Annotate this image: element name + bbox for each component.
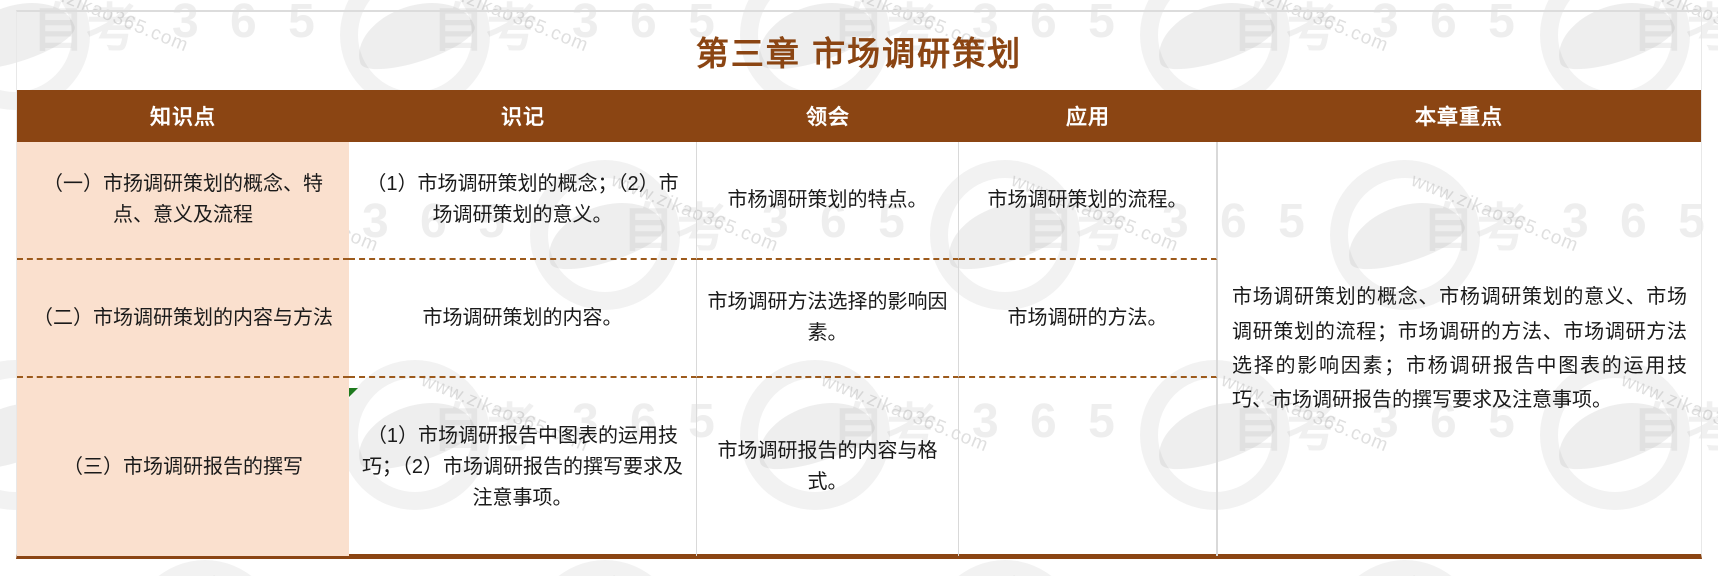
watermark-url: www.zikao365.com — [208, 570, 382, 576]
column-header-apply: 应用 — [959, 90, 1217, 142]
column-header-recognize: 识记 — [349, 90, 697, 142]
cell-knowledge-3: （三）市场调研报告的撰写 — [17, 378, 349, 556]
watermark-url: www.zikao365.com — [1408, 570, 1582, 576]
cell-apply-3 — [959, 378, 1217, 556]
watermark-logo-icon — [130, 560, 280, 576]
watermark-url: www.zikao365.com — [608, 570, 782, 576]
cell-knowledge-2: （二）市场调研策划的内容与方法 — [17, 260, 349, 378]
page-title-band: 第三章 市场调研策划 — [17, 12, 1701, 90]
cell-comprehend-3: 市场调研报告的内容与格式。 — [697, 378, 959, 556]
watermark-logo-icon — [930, 560, 1080, 576]
cell-recognize-3: （1）市场调研报告中图表的运用技巧；（2）市场调研报告的撰写要求及注意事项。 — [349, 378, 697, 556]
cell-knowledge-1: （一）市扬调研策划的概念、特点、意义及流程 — [17, 142, 349, 260]
watermark-logo-icon — [530, 560, 680, 576]
cell-apply-2: 市场调研的方法。 — [959, 260, 1217, 378]
watermark-url: www.zikao365.com — [1008, 570, 1182, 576]
column-header-comprehend: 领会 — [697, 90, 959, 142]
column-header-focus: 本章重点 — [1217, 90, 1701, 142]
cell-recognize-2: 市场调研策划的内容。 — [349, 260, 697, 378]
watermark-unit: 自考3 6 5www.zikao365.com — [930, 560, 1260, 576]
green-triangle-marker-icon — [349, 388, 358, 397]
watermark-logo-icon — [1330, 560, 1480, 576]
column-header-knowledge: 知识点 — [17, 90, 349, 142]
focus-text: 市场调研策划的概念、市杨调研策划的意义、市场调研策划的流程；市场调研的方法、市场… — [1232, 280, 1687, 418]
cell-recognize-1: （1）市场调研策划的概念；（2）市场调研策划的意义。 — [349, 142, 697, 260]
watermark-unit: 自考3 6 5www.zikao365.com — [1330, 560, 1660, 576]
cell-focus-merged: 市场调研策划的概念、市杨调研策划的意义、市场调研策划的流程；市场调研的方法、市场… — [1217, 142, 1701, 556]
cell-comprehend-1: 市杨调研策划的特点。 — [697, 142, 959, 260]
table-header-row: 知识点 识记 领会 应用 本章重点 — [17, 90, 1701, 142]
cell-comprehend-2: 市场调研方法选择的影响因素。 — [697, 260, 959, 378]
table-body: （一）市扬调研策划的概念、特点、意义及流程 （1）市场调研策划的概念；（2）市场… — [17, 142, 1701, 556]
watermark-unit: 自考3 6 5www.zikao365.com — [130, 560, 460, 576]
chapter-summary-table: 第三章 市场调研策划 知识点 识记 领会 应用 本章重点 （一）市扬调研策划的概… — [16, 10, 1702, 559]
cell-apply-1: 市场调研策划的流程。 — [959, 142, 1217, 260]
watermark-unit: 自考3 6 5www.zikao365.com — [0, 560, 60, 576]
watermark-unit: 自考3 6 5www.zikao365.com — [530, 560, 860, 576]
page-title: 第三章 市场调研策划 — [696, 27, 1022, 75]
